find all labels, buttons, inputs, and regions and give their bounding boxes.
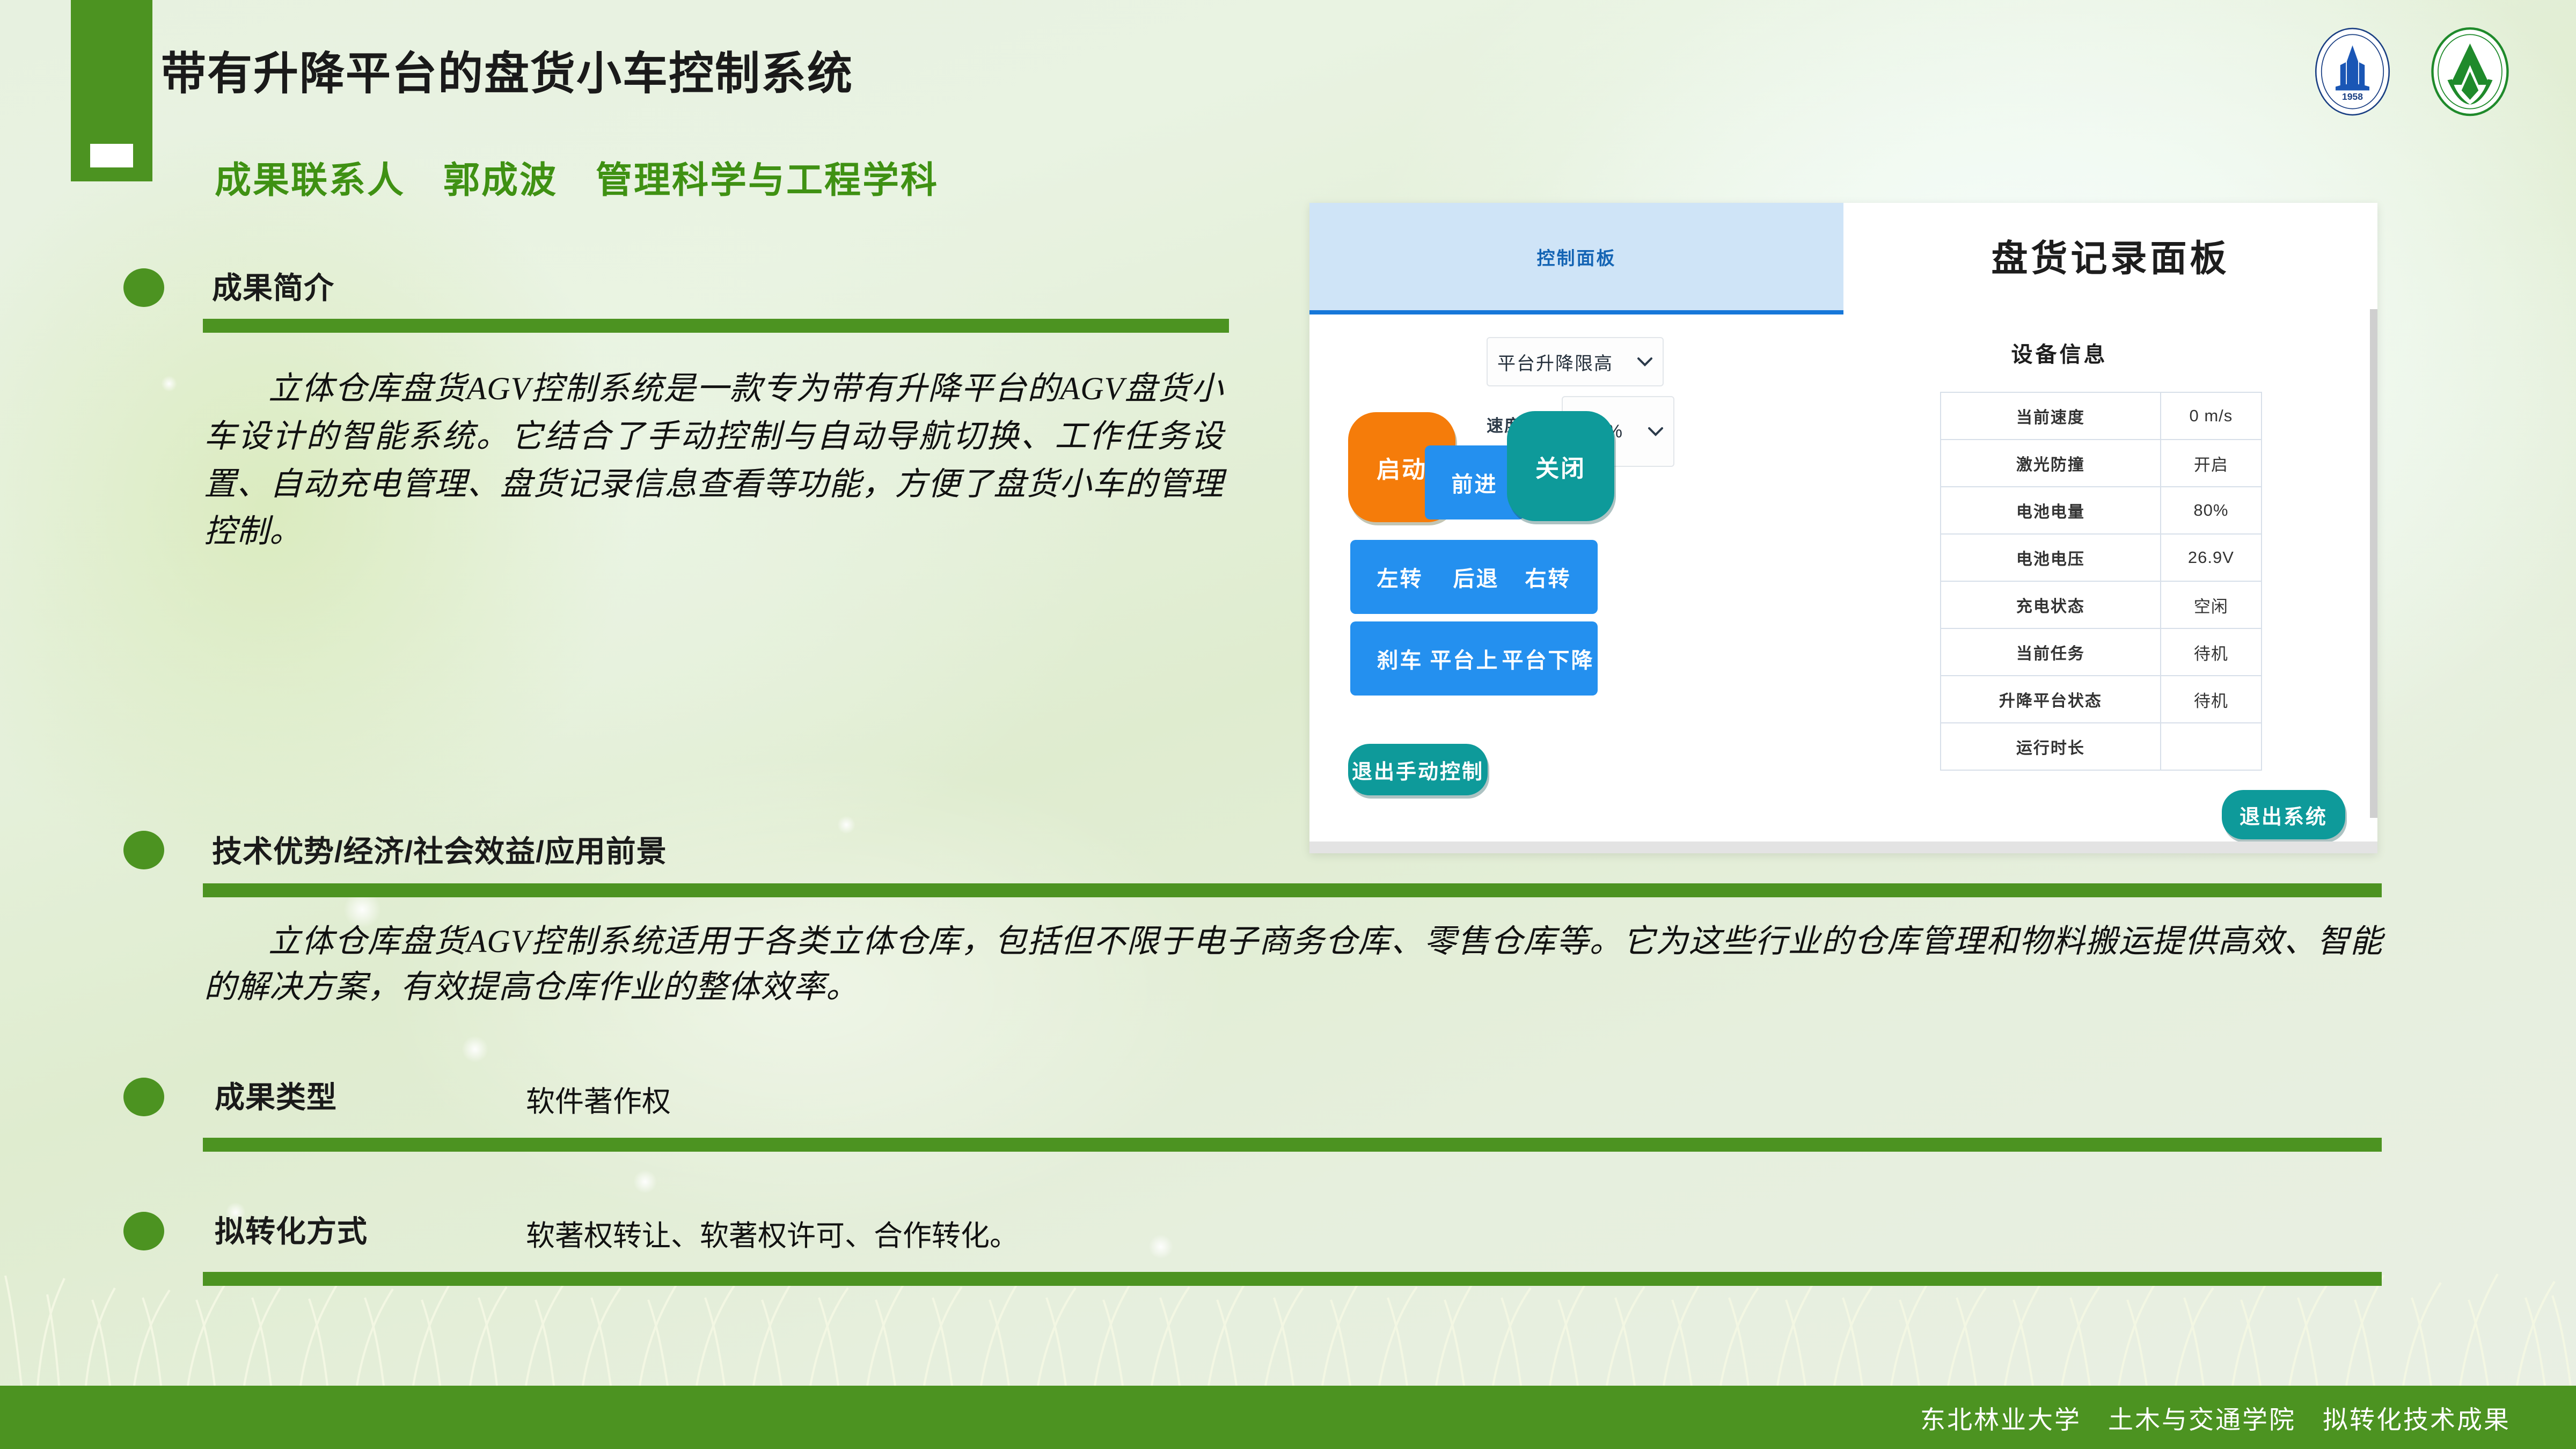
chevron-down-icon: [1637, 357, 1653, 367]
row-label: 激光防撞: [1941, 440, 2161, 487]
table-row: 当前速度 0 m/s: [1941, 392, 2262, 440]
logo-group: 1958: [2306, 25, 2517, 119]
exit-manual-control-button[interactable]: 退出手动控制: [1348, 744, 1488, 795]
row-value: 0 m/s: [2161, 392, 2262, 440]
row-label: 电池电量: [1941, 487, 2161, 534]
section-bullet-intro: [123, 268, 164, 307]
row-label: 运行时长: [1941, 723, 2161, 770]
exit-system-button[interactable]: 退出系统: [2222, 790, 2345, 839]
northeast-forestry-university-emblem-icon: [2423, 25, 2517, 119]
row-value: [2161, 723, 2262, 770]
page-subtitle: 成果联系人 郭成波 管理科学与工程学科: [215, 150, 939, 203]
row-label: 电池电压: [1941, 534, 2161, 581]
app-screenshot: 控制面板 平台升降限高 速度控制 100% 启动 前进 关闭 左转 后退 右: [1309, 203, 2377, 853]
height-limit-value: 平台升降限高: [1497, 349, 1613, 375]
header-tab-notch: [90, 144, 133, 167]
section-body-intro: 立体仓库盘货AGV控制系统是一款专为带有升降平台的AGV盘货小车设计的智能系统。…: [204, 365, 1224, 555]
section-heading-transfer: 拟转化方式: [215, 1207, 368, 1251]
record-panel: 盘货记录面板 设备信息 当前速度 0 m/s 激光防撞 开启 电池电量 80% …: [1843, 203, 2377, 853]
page-title: 带有升降平台的盘货小车控制系统: [161, 38, 853, 103]
row-value: 待机: [2161, 628, 2262, 676]
control-panel: 控制面板 平台升降限高 速度控制 100% 启动 前进 关闭 左转 后退 右: [1309, 203, 1843, 853]
row-label: 当前任务: [1941, 628, 2161, 676]
bokeh-dot: [161, 376, 177, 392]
section-rule-advantage: [203, 883, 2382, 897]
bokeh-dot: [837, 816, 855, 834]
row-value: 待机: [2161, 676, 2262, 723]
control-panel-title: 控制面板: [1537, 244, 1616, 270]
footer-bar: 东北林业大学 土木与交通学院 拟转化技术成果: [0, 1386, 2576, 1449]
svg-text:1958: 1958: [2342, 91, 2363, 102]
close-button[interactable]: 关闭: [1507, 411, 1614, 521]
bokeh-dot: [633, 1170, 657, 1194]
chevron-down-icon: [1648, 427, 1664, 436]
row-value: 开启: [2161, 440, 2262, 487]
device-info-table: 当前速度 0 m/s 激光防撞 开启 电池电量 80% 电池电压 26.9V 充…: [1940, 392, 2262, 771]
civil-engineering-school-emblem-icon: 1958: [2306, 25, 2399, 119]
row-label: 当前速度: [1941, 392, 2161, 440]
turn-right-button[interactable]: 右转: [1498, 540, 1598, 614]
section-heading-intro: 成果简介: [212, 264, 334, 308]
section-bullet-transfer: [123, 1212, 164, 1250]
bokeh-dot: [462, 1036, 488, 1063]
section-value-transfer: 软著权转让、软著权许可、合作转化。: [526, 1212, 1019, 1254]
section-rule-type: [203, 1138, 2382, 1152]
table-row: 运行时长: [1941, 723, 2262, 770]
row-value: 80%: [2161, 487, 2262, 534]
row-value: 26.9V: [2161, 534, 2262, 581]
section-bullet-type: [123, 1078, 164, 1116]
horizontal-scrollbar[interactable]: [1309, 841, 2377, 853]
section-bullet-advantage: [123, 831, 164, 869]
row-value: 空闲: [2161, 581, 2262, 628]
header-green-tab: [71, 0, 152, 181]
table-row: 电池电量 80%: [1941, 487, 2262, 534]
section-value-type: 软件著作权: [526, 1078, 671, 1120]
vertical-scrollbar[interactable]: [2370, 309, 2377, 818]
table-row: 充电状态 空闲: [1941, 581, 2262, 628]
device-info-title: 设备信息: [1843, 337, 2275, 368]
table-row: 升降平台状态 待机: [1941, 676, 2262, 723]
control-panel-body: 平台升降限高 速度控制 100% 启动 前进 关闭 左转 后退 右转 刹车 平台…: [1309, 314, 1843, 853]
footer-text: 东北林业大学 土木与交通学院 拟转化技术成果: [1920, 1399, 2511, 1436]
section-heading-type: 成果类型: [215, 1073, 337, 1117]
row-label: 升降平台状态: [1941, 676, 2161, 723]
section-rule-transfer: [203, 1272, 2382, 1286]
control-panel-header: 控制面板: [1309, 203, 1843, 314]
row-label: 充电状态: [1941, 581, 2161, 628]
platform-down-button[interactable]: 平台下降: [1498, 621, 1598, 696]
table-row: 电池电压 26.9V: [1941, 534, 2262, 581]
height-limit-select[interactable]: 平台升降限高: [1487, 337, 1664, 386]
table-row: 当前任务 待机: [1941, 628, 2262, 676]
record-panel-title: 盘货记录面板: [1843, 229, 2377, 282]
grass-decoration: [0, 1225, 2576, 1386]
table-row: 激光防撞 开启: [1941, 440, 2262, 487]
section-heading-advantage: 技术优势/经济/社会效益/应用前景: [212, 828, 667, 871]
section-rule-intro: [203, 319, 1229, 333]
section-body-advantage: 立体仓库盘货AGV控制系统适用于各类立体仓库，包括但不限于电子商务仓库、零售仓库…: [204, 919, 2383, 1010]
